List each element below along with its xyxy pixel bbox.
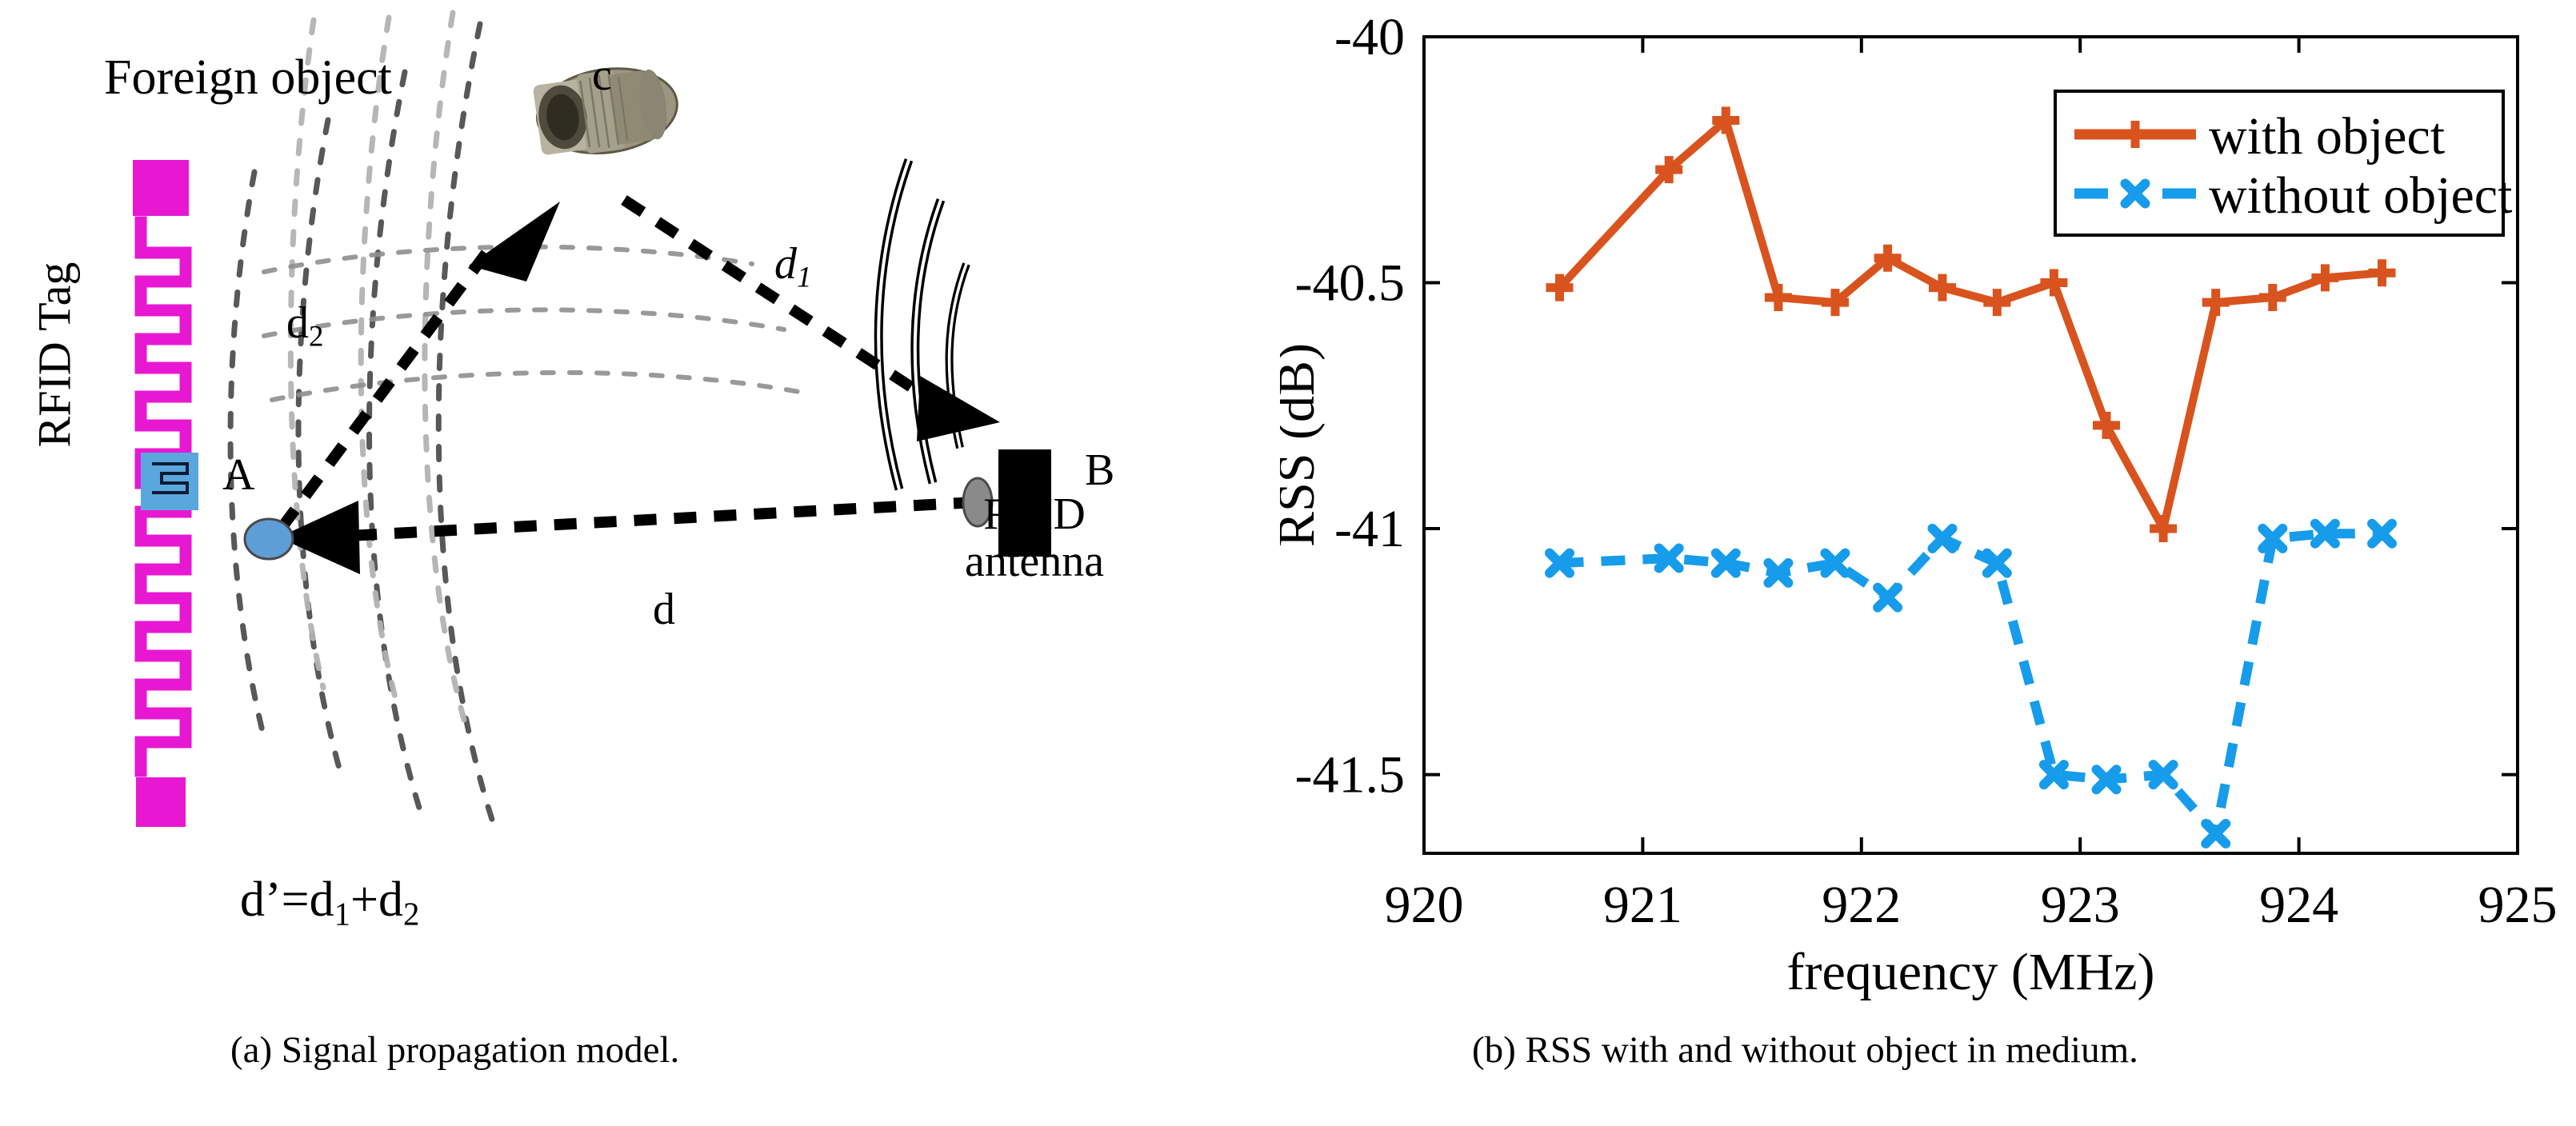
eq-part2: +d bbox=[350, 872, 403, 927]
y-tick-label: -41 bbox=[1334, 500, 1405, 558]
label-point-b: B bbox=[1085, 445, 1114, 496]
legend-label-1: with object bbox=[2209, 107, 2445, 166]
d2-sub: 2 bbox=[309, 319, 323, 352]
y-tick-label: -40 bbox=[1334, 8, 1405, 66]
label-point-a: A bbox=[222, 449, 254, 501]
legend-label-2: without object bbox=[2209, 166, 2512, 225]
d2-base: d bbox=[286, 298, 309, 348]
panel-a-signal-propagation: Foreign object c RFID Tag A B RFID anten… bbox=[0, 0, 1280, 1126]
ray-d2 bbox=[282, 202, 560, 528]
wavefront-arcs-dark bbox=[164, 24, 496, 832]
rss-chart-svg: 920921922923924925-40-40.5-41-41.5freque… bbox=[1280, 0, 2576, 1126]
x-tick-label: 924 bbox=[2259, 876, 2338, 934]
ray-d-direct bbox=[278, 501, 976, 574]
ray-d1 bbox=[624, 200, 1000, 441]
node-a-marker bbox=[245, 519, 293, 559]
eq-part1: d’=d bbox=[240, 872, 334, 927]
y-tick-label: -40.5 bbox=[1295, 254, 1405, 313]
y-axis-label: RSS (dB) bbox=[1280, 343, 1326, 547]
caption-panel-b: (b) RSS with and without object in mediu… bbox=[1472, 1028, 2138, 1072]
label-rfid-antenna: RFID antenna bbox=[965, 491, 1104, 586]
d1-sub: 1 bbox=[797, 260, 811, 293]
arrowhead-d1 bbox=[917, 376, 1000, 441]
arrowhead-d2 bbox=[469, 202, 560, 281]
x-tick-label: 921 bbox=[1603, 876, 1682, 934]
label-rfid-antenna-line1: RFID bbox=[983, 489, 1086, 539]
figure-container: Foreign object c RFID Tag A B RFID anten… bbox=[0, 0, 2576, 1126]
series-line bbox=[1560, 533, 2382, 833]
label-distance-d2: d2 bbox=[286, 297, 323, 353]
x-tick-label: 922 bbox=[1822, 876, 1901, 934]
chart-legend[interactable]: with objectwithout object bbox=[2055, 91, 2512, 235]
eq-sub2: 2 bbox=[403, 896, 419, 932]
label-point-c: c bbox=[592, 50, 612, 101]
x-tick-label: 925 bbox=[2478, 876, 2558, 934]
d1-base: d bbox=[774, 239, 797, 289]
label-equation-dprime: d’=d1+d2 bbox=[240, 872, 420, 932]
y-tick-label: -41.5 bbox=[1295, 746, 1405, 805]
caption-panel-a: (a) Signal propagation model. bbox=[230, 1028, 679, 1072]
x-axis-label: frequency (MHz) bbox=[1787, 943, 2155, 1001]
eq-sub1: 1 bbox=[334, 896, 350, 932]
panel-b-rss-chart: 920921922923924925-40-40.5-41-41.5freque… bbox=[1280, 0, 2576, 1126]
rfid-tag-graphic bbox=[116, 149, 209, 833]
series-2 bbox=[1550, 524, 2392, 844]
x-tick-label: 920 bbox=[1385, 876, 1464, 934]
x-tick-label: 923 bbox=[2041, 876, 2120, 934]
label-rfid-antenna-line2: antenna bbox=[965, 537, 1104, 586]
label-rfid-tag: RFID Tag bbox=[28, 235, 82, 475]
label-distance-d1: d1 bbox=[774, 238, 811, 293]
label-foreign-object: Foreign object bbox=[104, 50, 392, 106]
label-distance-d: d bbox=[653, 584, 675, 635]
